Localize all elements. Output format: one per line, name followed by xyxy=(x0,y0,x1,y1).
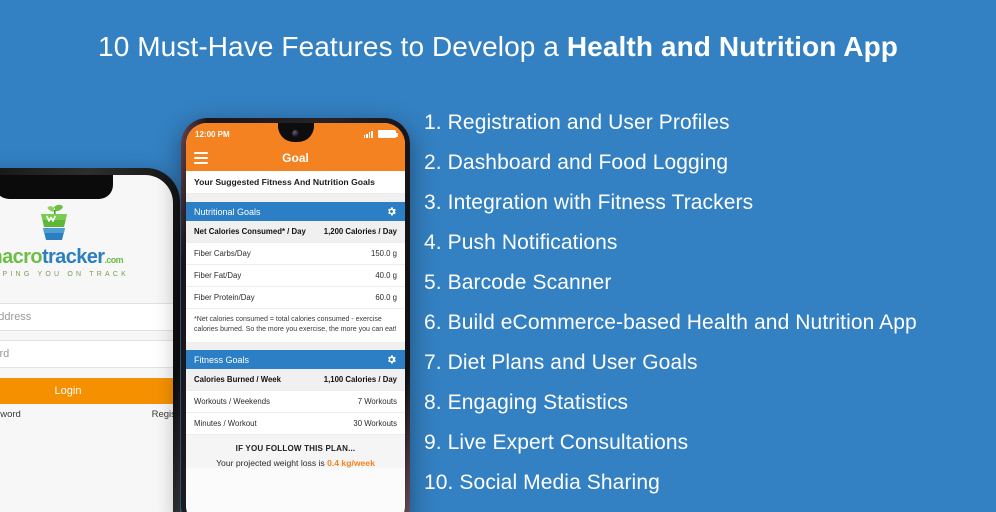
password-field[interactable]: Password xyxy=(0,340,173,368)
phone-mockup-goal: 12:00 PM Goal Your Suggested Fitness And… xyxy=(181,118,410,512)
login-screen: 12:00 PM macrotracker.com KEEPING YOU ON… xyxy=(0,175,173,512)
plan-summary-value: 0.4 kg/week xyxy=(327,458,375,468)
battery-icon xyxy=(378,130,396,138)
row-label: Fiber Carbs/Day xyxy=(194,249,251,258)
status-indicators xyxy=(364,130,396,138)
spacer xyxy=(186,194,405,202)
table-row: Fiber Carbs/Day 150.0 g xyxy=(186,243,405,265)
brand-tagline: KEEPING YOU ON TRACK xyxy=(0,271,129,278)
feature-list: 1. Registration and User Profiles 2. Das… xyxy=(424,103,994,503)
row-value: 40.0 g xyxy=(375,271,397,280)
brand-part-1: macro xyxy=(0,246,42,268)
list-item: 3. Integration with Fitness Trackers xyxy=(424,183,994,223)
register-link[interactable]: Register xyxy=(152,409,173,420)
app-bar-title: Goal xyxy=(186,151,405,165)
row-label: Net Calories Consumed* / Day xyxy=(194,227,306,236)
list-item: 5. Barcode Scanner xyxy=(424,263,994,303)
row-value: 30 Workouts xyxy=(353,419,397,428)
section-title: Nutritional Goals xyxy=(194,207,261,217)
list-item: 7. Diet Plans and User Goals xyxy=(424,343,994,383)
section-header-fitness: Fitness Goals xyxy=(186,350,405,369)
row-value: 7 Workouts xyxy=(358,397,397,406)
page-title-bold: Health and Nutrition App xyxy=(567,31,898,62)
table-row: Fiber Protein/Day 60.0 g xyxy=(186,287,405,309)
list-item: 1. Registration and User Profiles xyxy=(424,103,994,143)
email-field[interactable]: Email Address xyxy=(0,303,173,331)
notch xyxy=(0,175,113,199)
gear-icon[interactable] xyxy=(386,206,397,217)
row-value: 150.0 g xyxy=(371,249,397,258)
row-label: Calories Burned / Week xyxy=(194,375,281,384)
table-row: Net Calories Consumed* / Day 1,200 Calor… xyxy=(186,221,405,243)
front-camera-icon xyxy=(292,130,299,137)
row-value: 60.0 g xyxy=(375,293,397,302)
screen-subheading: Your Suggested Fitness And Nutrition Goa… xyxy=(186,171,405,194)
goal-screen: 12:00 PM Goal Your Suggested Fitness And… xyxy=(186,123,405,512)
section-header-nutritional: Nutritional Goals xyxy=(186,202,405,221)
gear-icon[interactable] xyxy=(386,354,397,365)
row-value: 1,200 Calories / Day xyxy=(324,227,397,236)
phone-mockup-login: 12:00 PM macrotracker.com KEEPING YOU ON… xyxy=(0,168,180,512)
list-item: 6. Build eCommerce-based Health and Nutr… xyxy=(424,303,994,343)
footnote: *Net calories consumed = total calories … xyxy=(186,309,405,342)
spacer xyxy=(186,342,405,350)
table-row: Workouts / Weekends 7 Workouts xyxy=(186,391,405,413)
signal-icon xyxy=(364,130,373,138)
table-row: Minutes / Workout 30 Workouts xyxy=(186,413,405,435)
login-button[interactable]: Login xyxy=(0,378,173,404)
forgot-password-link[interactable]: Forgot Password xyxy=(0,409,21,420)
macrotracker-logo-icon xyxy=(33,203,75,243)
brand-wordmark: macrotracker.com xyxy=(0,246,123,269)
list-item: 2. Dashboard and Food Logging xyxy=(424,143,994,183)
table-row: Calories Burned / Week 1,100 Calories / … xyxy=(186,369,405,391)
list-item: 10. Social Media Sharing xyxy=(424,463,994,503)
status-time: 12:00 PM xyxy=(195,130,230,139)
list-item: 9. Live Expert Consultations xyxy=(424,423,994,463)
list-item: 4. Push Notifications xyxy=(424,223,994,263)
plan-summary-prefix: Your projected weight loss is xyxy=(216,458,327,468)
brand-suffix: .com xyxy=(104,255,123,265)
auth-links: Forgot Password Register xyxy=(0,409,173,420)
page-title: 10 Must-Have Features to Develop a Healt… xyxy=(0,30,996,64)
row-value: 1,100 Calories / Day xyxy=(324,375,397,384)
app-bar: Goal xyxy=(186,145,405,171)
brand-part-2: tracker xyxy=(42,246,105,268)
page-title-plain: 10 Must-Have Features to Develop a xyxy=(98,31,567,62)
row-label: Fiber Protein/Day xyxy=(194,293,255,302)
plan-summary: IF YOU FOLLOW THIS PLAN... Your projecte… xyxy=(186,435,405,468)
list-item: 8. Engaging Statistics xyxy=(424,383,994,423)
row-label: Minutes / Workout xyxy=(194,419,257,428)
row-label: Workouts / Weekends xyxy=(194,397,270,406)
brand-block: macrotracker.com KEEPING YOU ON TRACK xyxy=(0,203,173,278)
plan-summary-heading: IF YOU FOLLOW THIS PLAN... xyxy=(186,444,405,453)
table-row: Fiber Fat/Day 40.0 g xyxy=(186,265,405,287)
plan-summary-text: Your projected weight loss is 0.4 kg/wee… xyxy=(186,458,405,468)
section-title: Fitness Goals xyxy=(194,355,249,365)
row-label: Fiber Fat/Day xyxy=(194,271,241,280)
